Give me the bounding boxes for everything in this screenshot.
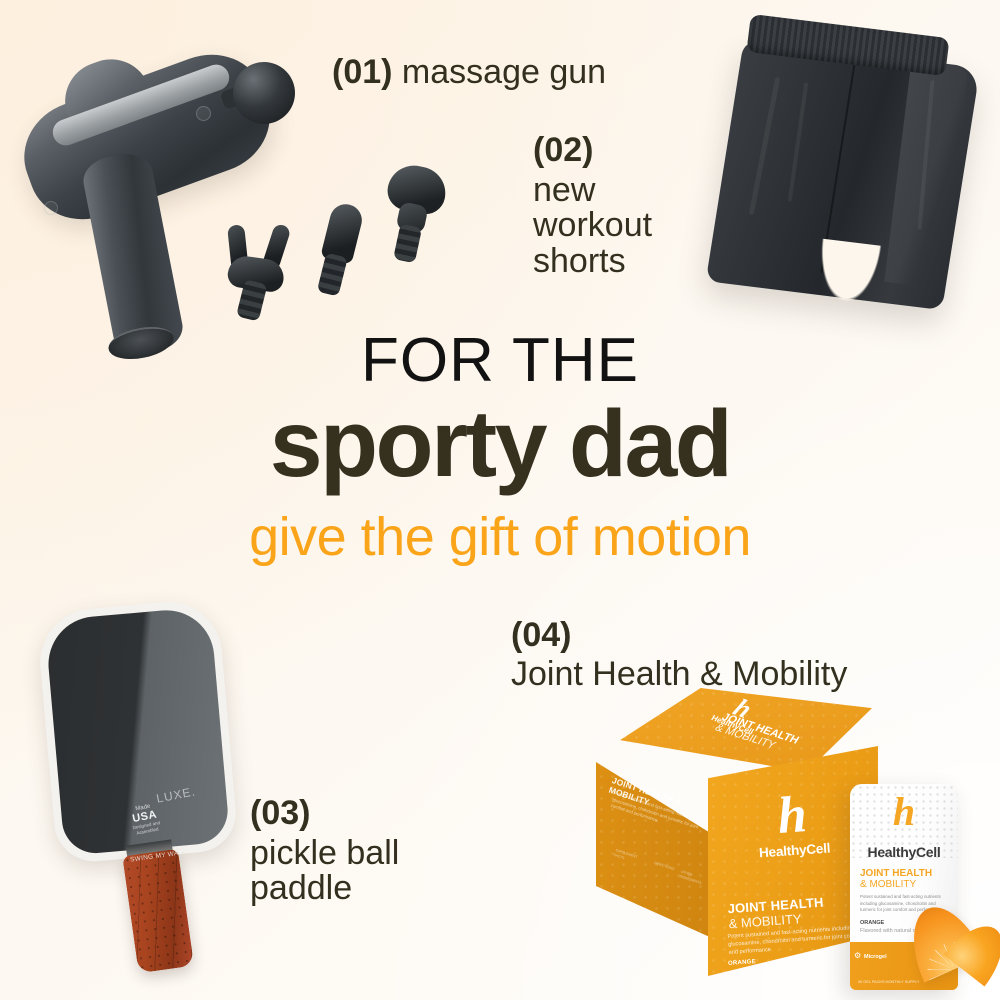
headline-main: sporty dad <box>0 397 1000 492</box>
packet-title-line2: & MOBILITY <box>860 879 952 890</box>
product-name-02-line1: new <box>533 173 652 209</box>
healthycell-front-logo: h HealthyCell <box>754 793 832 860</box>
headline-subtitle: give the gift of motion <box>0 510 1000 564</box>
product-number-03: (03) <box>250 796 399 832</box>
product-name-03-line2: paddle <box>250 871 399 907</box>
microgel-icon: ⚙ <box>854 952 862 960</box>
product-name-03-line1: pickle ball <box>250 836 399 872</box>
packet-net-text: 30 GEL PACKS MONTHLY SUPPLY <box>858 980 919 984</box>
gift-guide-graphic: LUXE. Made USA Designed and Assembled SW… <box>0 0 1000 1000</box>
packet-title-line1: JOINT HEALTH <box>860 868 952 879</box>
packet-flavor-label: ORANGE <box>860 920 884 926</box>
hex-pattern <box>596 738 712 938</box>
product-label-03: (03) pickle ball paddle <box>250 796 399 907</box>
headline-kicker: FOR THE <box>0 332 1000 391</box>
massage-gun-power-button <box>196 106 211 121</box>
packet-microgel-label: Microgel <box>864 954 887 960</box>
product-name-02-line3: shorts <box>533 244 652 280</box>
healthycell-logo-letter: h <box>754 793 831 839</box>
healthycell-front-flavor: ORANGE <box>728 959 756 967</box>
healthycell-logo-letter: h <box>850 796 958 828</box>
healthycell-box: h HealthyCell JOINT HEALTH & MOBILITY JO… <box>596 688 886 988</box>
paddle-grip-perforations <box>122 849 194 974</box>
packet-title: JOINT HEALTH & MOBILITY <box>860 868 952 890</box>
healthycell-box-left-face <box>596 738 712 938</box>
headline-block: FOR THE sporty dad give the gift of moti… <box>0 332 1000 564</box>
massage-gun-ball-head <box>233 62 295 124</box>
healthycell-brand-name: HealthyCell <box>850 844 958 860</box>
shorts-inseam-notch <box>812 238 883 309</box>
massage-gun-rear-button <box>44 201 58 215</box>
product-number-04: (04) <box>511 618 847 654</box>
product-name-02-line2: workout <box>533 208 652 244</box>
massage-gun-mushroom-attachment <box>372 161 454 276</box>
workout-shorts-image <box>666 10 1000 355</box>
pickleball-paddle-image: LUXE. Made USA Designed and Assembled SW… <box>32 596 274 993</box>
product-label-01: (01) massage gun <box>332 55 606 91</box>
product-label-02: (02) new workout shorts <box>533 133 652 280</box>
healthycell-product-image: h HealthyCell JOINT HEALTH & MOBILITY JO… <box>596 688 1000 1000</box>
product-label-04: (04) Joint Health & Mobility <box>511 618 847 692</box>
product-number-02: (02) <box>533 133 652 169</box>
product-name-01: massage gun <box>402 53 606 91</box>
massage-gun-fork-attachment <box>215 217 301 330</box>
massage-gun-bullet-attachment <box>305 199 377 304</box>
product-number-01: (01) <box>332 53 392 91</box>
product-name-04: Joint Health & Mobility <box>511 657 847 693</box>
paddle-grip <box>122 849 194 974</box>
